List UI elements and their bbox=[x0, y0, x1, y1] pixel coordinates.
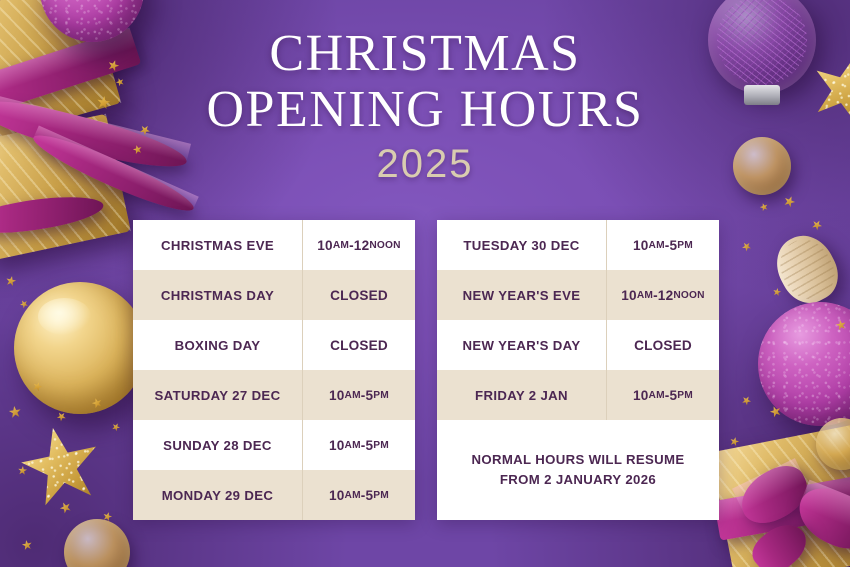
day-label: BOXING DAY bbox=[133, 338, 302, 353]
hours-value: CLOSED bbox=[606, 320, 719, 370]
hours-number: 10 bbox=[329, 488, 345, 503]
hours-value: 10AM-5PM bbox=[302, 370, 415, 420]
table-row: BOXING DAY CLOSED bbox=[133, 320, 415, 370]
hours-number: 10 bbox=[329, 438, 345, 453]
hours-suffix: AM bbox=[649, 390, 665, 401]
hours-mid: -5 bbox=[361, 388, 374, 403]
hours-value: 10AM-12 NOON bbox=[606, 270, 719, 320]
day-label: SATURDAY 27 DEC bbox=[133, 388, 302, 403]
table-row: SATURDAY 27 DEC 10AM-5PM bbox=[133, 370, 415, 420]
hours-number: CLOSED bbox=[330, 288, 388, 303]
note-line-2: FROM 2 JANUARY 2026 bbox=[500, 470, 656, 490]
hours-number: 10 bbox=[329, 388, 345, 403]
hours-number: 10 bbox=[633, 238, 649, 253]
hours-suffix2: PM bbox=[373, 440, 389, 451]
heading-line-2: OPENING HOURS bbox=[0, 82, 850, 138]
table-row: NEW YEAR'S EVE 10AM-12 NOON bbox=[437, 270, 719, 320]
day-label: MONDAY 29 DEC bbox=[133, 488, 302, 503]
day-label: CHRISTMAS DAY bbox=[133, 288, 302, 303]
hours-number: CLOSED bbox=[330, 338, 388, 353]
christmas-opening-hours-poster: CHRISTMAS OPENING HOURS 2025 CHRISTMAS E… bbox=[0, 0, 850, 567]
normal-hours-note: NORMAL HOURS WILL RESUME FROM 2 JANUARY … bbox=[437, 420, 719, 520]
hours-suffix: AM bbox=[649, 240, 665, 251]
hours-mid: -5 bbox=[665, 388, 678, 403]
hours-value: 10AM-5PM bbox=[606, 220, 719, 270]
hours-number: 10 bbox=[633, 388, 649, 403]
hours-suffix: AM bbox=[345, 390, 361, 401]
hours-suffix2: PM bbox=[677, 390, 693, 401]
hours-suffix: AM bbox=[345, 490, 361, 501]
day-label: CHRISTMAS EVE bbox=[133, 238, 302, 253]
table-row: NEW YEAR'S DAY CLOSED bbox=[437, 320, 719, 370]
december-schedule-table: CHRISTMAS EVE 10AM-12 NOON CHRISTMAS DAY… bbox=[133, 220, 415, 520]
day-label: TUESDAY 30 DEC bbox=[437, 238, 606, 253]
note-resume-date: 2 JANUARY 2026 bbox=[544, 472, 656, 487]
table-row: FRIDAY 2 JAN 10AM-5PM bbox=[437, 370, 719, 420]
day-label: NEW YEAR'S DAY bbox=[437, 338, 606, 353]
hours-value: CLOSED bbox=[302, 320, 415, 370]
hours-value: 10AM-5PM bbox=[302, 420, 415, 470]
hours-mid: -12 bbox=[653, 288, 673, 303]
hours-suffix: AM bbox=[345, 440, 361, 451]
table-row: CHRISTMAS DAY CLOSED bbox=[133, 270, 415, 320]
table-row: CHRISTMAS EVE 10AM-12 NOON bbox=[133, 220, 415, 270]
hours-number: CLOSED bbox=[634, 338, 692, 353]
hours-number: 10 bbox=[621, 288, 637, 303]
new-year-schedule-table: TUESDAY 30 DEC 10AM-5PM NEW YEAR'S EVE 1… bbox=[437, 220, 719, 520]
hours-number: 10 bbox=[317, 238, 333, 253]
hours-suffix2: PM bbox=[373, 490, 389, 501]
hours-mid: -12 bbox=[349, 238, 369, 253]
hours-value: 10AM-5PM bbox=[606, 370, 719, 420]
day-label: NEW YEAR'S EVE bbox=[437, 288, 606, 303]
note-prefix: FROM bbox=[500, 472, 544, 487]
day-label: SUNDAY 28 DEC bbox=[133, 438, 302, 453]
hours-suffix: AM bbox=[637, 290, 653, 301]
hours-mid: -5 bbox=[665, 238, 678, 253]
heading-year: 2025 bbox=[0, 142, 850, 186]
hours-value: 10AM-5PM bbox=[302, 470, 415, 520]
hours-suffix: AM bbox=[333, 240, 349, 251]
note-line-1: NORMAL HOURS WILL RESUME bbox=[471, 450, 684, 470]
hours-suffix2: PM bbox=[677, 240, 693, 251]
table-row: TUESDAY 30 DEC 10AM-5PM bbox=[437, 220, 719, 270]
heading-line-1: CHRISTMAS bbox=[0, 26, 850, 82]
table-row: MONDAY 29 DEC 10AM-5PM bbox=[133, 470, 415, 520]
table-row: SUNDAY 28 DEC 10AM-5PM bbox=[133, 420, 415, 470]
poster-heading: CHRISTMAS OPENING HOURS 2025 bbox=[0, 26, 850, 186]
hours-suffix2: NOON bbox=[673, 290, 704, 301]
hours-value: 10AM-12 NOON bbox=[302, 220, 415, 270]
hours-mid: -5 bbox=[361, 488, 374, 503]
hours-suffix2: NOON bbox=[369, 240, 400, 251]
hours-suffix2: PM bbox=[373, 390, 389, 401]
hours-mid: -5 bbox=[361, 438, 374, 453]
schedule-tables: CHRISTMAS EVE 10AM-12 NOON CHRISTMAS DAY… bbox=[133, 220, 719, 520]
hours-value: CLOSED bbox=[302, 270, 415, 320]
day-label: FRIDAY 2 JAN bbox=[437, 388, 606, 403]
